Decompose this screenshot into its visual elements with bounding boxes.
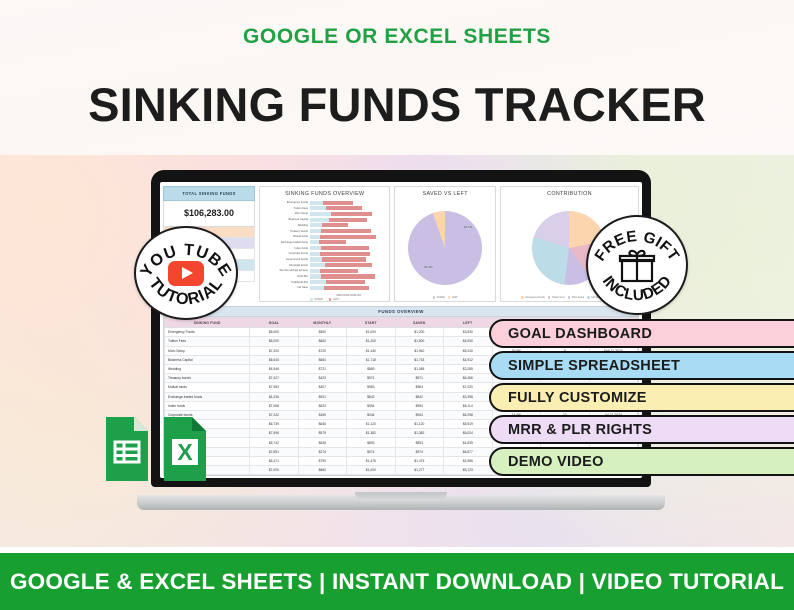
bar-track: [310, 240, 387, 244]
table-cell: $5,519: [444, 420, 492, 429]
bar-chart-axis: $0$2,000$4,000$6,000: [286, 294, 363, 297]
table-cell: $842: [395, 392, 443, 401]
table-cell: $3,830: [444, 328, 492, 337]
free-gift-badge[interactable]: FREE GIFT INCLUDED: [586, 215, 688, 315]
bar-row: Emergency Funds: [262, 200, 387, 205]
table-cell: Business Capital: [165, 355, 250, 364]
bar-segment-saved: [310, 280, 326, 284]
feature-badge-2[interactable]: FULLY CUSTOMIZE: [489, 383, 794, 412]
bar-category-label: Roth IRA: [262, 275, 310, 278]
bar-track: [310, 269, 387, 273]
bar-category-label: Corporate bonds: [262, 252, 310, 255]
table-cell: $1,000: [347, 328, 395, 337]
bar-row: Index funds: [262, 246, 387, 251]
table-cell: $1,120: [347, 420, 395, 429]
bar-segment-saved: [310, 218, 329, 222]
bar-category-label: Treasury bonds: [262, 230, 310, 233]
bar-segment-saved: [310, 212, 331, 216]
table-cell: $5,723: [444, 466, 492, 475]
bar-segment-left: [326, 280, 365, 284]
bar-segment-left: [322, 223, 348, 227]
bar-segment-left: [319, 240, 346, 244]
pie1-plot: 18.7% 81.3%: [408, 200, 482, 296]
bar-axis-tick: $2,000: [339, 294, 346, 297]
bar-category-label: Tax-free savings account: [262, 269, 310, 272]
table-cell: $1,200: [395, 328, 443, 337]
table-cell: $6,298: [444, 410, 492, 419]
table-cell: $893: [347, 438, 395, 447]
table-column-header: START: [347, 318, 395, 328]
table-column-header: MONTHLY: [298, 318, 346, 328]
bar-category-label: Tuition Fees: [262, 207, 310, 210]
table-cell: $4,546: [250, 364, 298, 373]
table-cell: $1,382: [395, 429, 443, 438]
table-cell: $7,242: [250, 410, 298, 419]
bar-row: Municipal bonds: [262, 263, 387, 268]
header-banner: GOOGLE OR EXCEL SHEETS SINKING FUNDS TRA…: [0, 0, 794, 155]
feature-badge-label: DEMO VIDEO: [508, 454, 604, 470]
table-cell: $721: [298, 364, 346, 373]
table-cell: $7,983: [250, 383, 298, 392]
total-funds-label: TOTAL SINKING FUNDS: [163, 186, 255, 201]
table-cell: $1,500: [395, 337, 443, 346]
table-cell: $626: [298, 438, 346, 447]
bar-track: [310, 229, 387, 233]
bar-category-label: Government bonds: [262, 258, 310, 261]
table-column-header: LEFT: [444, 318, 492, 328]
svg-text:YOU TUBE: YOU TUBE: [137, 241, 235, 280]
svg-text:INCLUDED: INCLUDED: [599, 272, 675, 304]
table-cell: Mutual funds: [165, 383, 250, 392]
table-cell: $1,277: [395, 466, 443, 475]
bar-track: [310, 257, 387, 261]
table-cell: $842: [347, 392, 395, 401]
legend-saved: SAVED: [310, 298, 323, 301]
bar-segment-left: [321, 274, 375, 278]
microsoft-excel-icon: X: [158, 415, 212, 483]
table-cell: $7,068: [250, 401, 298, 410]
table-cell: $7,596: [250, 429, 298, 438]
table-cell: Emergency Funds: [165, 328, 250, 337]
pie2-legend-item: Mom Setup: [568, 296, 584, 299]
table-cell: $994: [347, 401, 395, 410]
feature-badge-list: GOAL DASHBOARDSIMPLE SPREADSHEETFULLY CU…: [489, 319, 794, 476]
table-cell: $646: [298, 420, 346, 429]
table-cell: $7,200: [250, 346, 298, 355]
bar-chart-title: SINKING FUNDS OVERVIEW: [285, 191, 364, 197]
table-cell: $6,456: [444, 374, 492, 383]
bar-segment-left: [329, 218, 368, 222]
table-cell: $1,200: [347, 337, 395, 346]
bar-segment-saved: [310, 229, 321, 233]
table-cell: $274: [298, 447, 346, 456]
table-cell: Tuition Fees: [165, 337, 250, 346]
table-cell: $6,471: [250, 456, 298, 465]
table-cell: $3,398: [444, 392, 492, 401]
table-cell: $6,739: [250, 420, 298, 429]
svg-text:X: X: [177, 439, 193, 465]
bar-track: [310, 274, 387, 278]
bar-chart-plot: Emergency FundsTuition FeesMom SetupBusi…: [260, 200, 390, 293]
bar-segment-saved: [310, 240, 319, 244]
table-cell: $944: [395, 410, 443, 419]
pie2-title: CONTRIBUTION: [547, 191, 592, 197]
google-sheets-icon: [100, 415, 154, 483]
youtube-tutorial-badge[interactable]: YOU TUBE TUTORIAL: [134, 226, 238, 320]
feature-badge-3[interactable]: MRR & PLR RIGHTS: [489, 415, 794, 444]
bar-segment-left: [320, 269, 358, 273]
table-cell: $971: [347, 374, 395, 383]
bar-track: [310, 280, 387, 284]
feature-badge-0[interactable]: GOAL DASHBOARD: [489, 319, 794, 348]
bar-category-label: Car Save: [262, 286, 310, 289]
table-cell: $963: [347, 383, 395, 392]
feature-badge-label: SIMPLE SPREADSHEET: [508, 358, 680, 374]
table-cell: $1,085: [395, 364, 443, 373]
bar-segment-saved: [310, 257, 322, 261]
bar-row: Corporate bonds: [262, 251, 387, 256]
pie1-label-saved: 81.3%: [424, 265, 433, 269]
bar-axis-tick: $4,000: [346, 294, 353, 297]
table-cell: $944: [347, 410, 395, 419]
table-cell: $5,240: [444, 346, 492, 355]
table-cell: $623: [298, 401, 346, 410]
bar-row: Roth IRA: [262, 274, 387, 279]
bar-segment-left: [326, 206, 362, 210]
feature-badge-label: MRR & PLR RIGHTS: [508, 422, 652, 438]
table-cell: $7,427: [250, 374, 298, 383]
table-cell: Wedding: [165, 364, 250, 373]
bar-segment-saved: [310, 274, 321, 278]
table-cell: $6,114: [444, 401, 492, 410]
bar-segment-saved: [310, 263, 325, 267]
bar-track: [310, 286, 387, 290]
table-cell: $1,718: [395, 355, 443, 364]
table-cell: $4,912: [444, 355, 492, 364]
bar-category-label: Business Capital: [262, 218, 310, 221]
feature-badge-4[interactable]: DEMO VIDEO: [489, 447, 794, 476]
table-cell: $963: [395, 383, 443, 392]
feature-badge-label: GOAL DASHBOARD: [508, 326, 652, 342]
bar-segment-saved: [310, 286, 324, 290]
total-funds-value: $106,283.00: [163, 201, 255, 227]
bar-category-label: Exchange-traded funds: [262, 241, 310, 244]
table-cell: Index funds: [165, 401, 250, 410]
table-cell: $6,000: [250, 337, 298, 346]
bar-row: Business Capital: [262, 217, 387, 222]
table-cell: $469: [298, 410, 346, 419]
table-cell: $4,839: [444, 438, 492, 447]
table-cell: $4,986: [444, 456, 492, 465]
pie2-legend-item: Tuition Fees: [548, 296, 565, 299]
table-cell: $1,120: [395, 420, 443, 429]
table-cell: $5,000: [250, 328, 298, 337]
bar-segment-left: [321, 229, 372, 233]
bar-segment-saved: [310, 201, 323, 205]
svg-text:TUTORIAL: TUTORIAL: [145, 275, 226, 309]
svg-text:FREE GIFT: FREE GIFT: [592, 228, 683, 264]
bar-row: Wedding: [262, 223, 387, 228]
bar-track: [310, 206, 387, 210]
footer-banner: GOOGLE & EXCEL SHEETS | INSTANT DOWNLOAD…: [0, 553, 794, 610]
footer-text: GOOGLE & EXCEL SHEETS | INSTANT DOWNLOAD…: [10, 569, 784, 595]
bar-segment-left: [325, 263, 372, 267]
bar-row: Mutual funds: [262, 234, 387, 239]
bar-row: Exchange-traded funds: [262, 240, 387, 245]
table-cell: $7,851: [250, 447, 298, 456]
bar-row: Government bonds: [262, 257, 387, 262]
table-cell: $6,024: [444, 429, 492, 438]
table-cell: $893: [395, 438, 443, 447]
bar-row: Tuition Fees: [262, 206, 387, 211]
bar-row: Tax-free savings account: [262, 268, 387, 273]
table-cell: $664: [298, 355, 346, 364]
bar-category-label: Wedding: [262, 224, 310, 227]
table-cell: $790: [298, 456, 346, 465]
table-cell: $7,000: [250, 466, 298, 475]
pie1-title: SAVED VS LEFT: [423, 191, 468, 197]
table-cell: $407: [298, 383, 346, 392]
table-cell: $1,440: [347, 346, 395, 355]
table-cell: $1,475: [395, 456, 443, 465]
table-cell: $423: [298, 374, 346, 383]
feature-badge-1[interactable]: SIMPLE SPREADSHEET: [489, 351, 794, 380]
table-cell: $6,640: [250, 355, 298, 364]
table-cell: $6,877: [444, 447, 492, 456]
bar-category-label: Mutual funds: [262, 235, 310, 238]
bar-axis-tick: $6,000: [354, 294, 361, 297]
bar-category-label: Index funds: [262, 247, 310, 250]
bar-track: [310, 263, 387, 267]
bar-track: [310, 218, 387, 222]
bar-segment-left: [331, 212, 372, 216]
bar-row: Car Save: [262, 285, 387, 290]
sinking-funds-overview-chart: SINKING FUNDS OVERVIEW Emergency FundsTu…: [259, 186, 391, 302]
bar-segment-saved: [310, 235, 321, 239]
table-cell: $579: [298, 429, 346, 438]
table-cell: Mom Setup: [165, 346, 250, 355]
bar-segment-left: [320, 252, 370, 256]
table-cell: $500: [298, 328, 346, 337]
pie2-legend-item: Emergency Funds: [521, 296, 544, 299]
table-cell: $4,530: [444, 337, 492, 346]
bar-category-label: Mom Setup: [262, 212, 310, 215]
table-cell: $1,940: [395, 346, 443, 355]
table-cell: $5,742: [250, 438, 298, 447]
bar-row: Treasury bonds: [262, 228, 387, 233]
bar-segment-left: [320, 235, 375, 239]
pie1-legend-left: LEFT: [448, 296, 458, 299]
pie1-label-left: 18.7%: [464, 225, 473, 229]
file-format-icons: X: [100, 415, 212, 483]
table-cell: $921: [298, 392, 346, 401]
bar-track: [310, 201, 387, 205]
pie1-circle: 18.7% 81.3%: [408, 211, 482, 285]
table-cell: $1,000: [347, 466, 395, 475]
table-cell: $3,285: [444, 364, 492, 373]
pie1-legend: SAVED LEFT: [430, 296, 461, 301]
laptop-notch: [355, 492, 447, 501]
table-cell: $600: [298, 337, 346, 346]
header-eyebrow: GOOGLE OR EXCEL SHEETS: [243, 25, 551, 49]
table-cell: $994: [395, 401, 443, 410]
bar-segment-left: [324, 286, 369, 290]
table-cell: $1,382: [347, 429, 395, 438]
table-cell: $1,475: [347, 456, 395, 465]
bar-segment-saved: [310, 252, 320, 256]
bar-chart-legend: SAVED LEFT: [310, 298, 339, 301]
bar-segment-saved: [310, 206, 326, 210]
bar-category-label: Municipal bonds: [262, 264, 310, 267]
saved-vs-left-chart: SAVED VS LEFT 18.7% 81.3% SAVED LEFT: [394, 186, 495, 302]
bar-segment-left: [321, 246, 369, 250]
table-cell: $7,020: [444, 383, 492, 392]
bar-track: [310, 235, 387, 239]
gift-badge-text: FREE GIFT INCLUDED: [588, 217, 686, 313]
table-cell: $860: [298, 466, 346, 475]
bar-category-label: Emergency Funds: [262, 201, 310, 204]
table-cell: $869: [347, 364, 395, 373]
table-cell: $4,236: [250, 392, 298, 401]
bar-segment-saved: [310, 246, 321, 250]
feature-badge-label: FULLY CUSTOMIZE: [508, 390, 647, 406]
bar-track: [310, 212, 387, 216]
bar-track: [310, 223, 387, 227]
table-cell: Exchange-traded funds: [165, 392, 250, 401]
table-cell: $971: [395, 374, 443, 383]
legend-left: LEFT: [329, 298, 339, 301]
bar-track: [310, 246, 387, 250]
table-cell: $1,718: [347, 355, 395, 364]
table-column-header: SAVED: [395, 318, 443, 328]
pie1-legend-saved: SAVED: [433, 296, 445, 299]
table-column-header: GOAL: [250, 318, 298, 328]
table-cell: $720: [298, 346, 346, 355]
bar-row: Traditional IRA: [262, 280, 387, 285]
bar-category-label: Traditional IRA: [262, 281, 310, 284]
bar-segment-left: [322, 257, 365, 261]
table-cell: Treasury bonds: [165, 374, 250, 383]
bar-segment-left: [323, 201, 353, 205]
youtube-badge-text: YOU TUBE TUTORIAL: [136, 228, 236, 318]
listing-image: GOOGLE OR EXCEL SHEETS SINKING FUNDS TRA…: [0, 0, 794, 610]
table-cell: $974: [395, 447, 443, 456]
page-title: SINKING FUNDS TRACKER: [88, 77, 706, 132]
table-cell: $974: [347, 447, 395, 456]
bar-segment-saved: [310, 223, 322, 227]
bar-row: Mom Setup: [262, 211, 387, 216]
bar-track: [310, 252, 387, 256]
bar-segment-saved: [310, 269, 320, 273]
